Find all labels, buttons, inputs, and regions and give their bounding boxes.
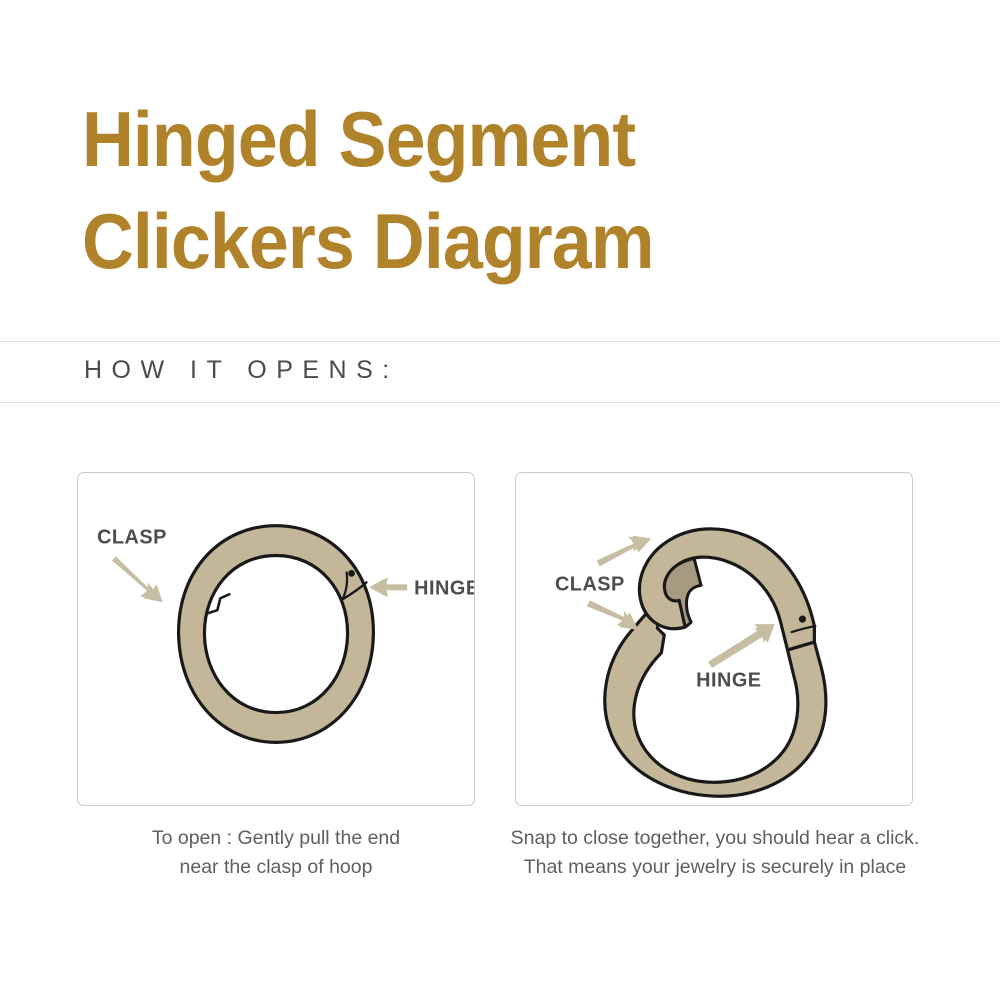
divider-bottom xyxy=(0,402,1000,403)
caption-line-1: To open : Gently pull the end xyxy=(77,824,475,853)
panel-opened-hoop: CLASP HINGE xyxy=(515,472,913,806)
panel-closed-hoop: CLASP HINGE xyxy=(77,472,475,806)
hinge-label: HINGE xyxy=(414,577,474,599)
hinge-pin-dot xyxy=(348,570,355,577)
hinge-pin-dot xyxy=(799,616,806,623)
clasp-label: CLASP xyxy=(555,573,625,595)
caption-closed-hoop: To open : Gently pull the end near the c… xyxy=(77,824,475,882)
hinge-arrow xyxy=(369,577,407,597)
divider-top xyxy=(0,341,1000,342)
clasp-arrow-upper xyxy=(597,536,652,567)
page-title: Hinged Segment Clickers Diagram xyxy=(82,88,902,292)
caption-line-2: That means your jewelry is securely in p… xyxy=(505,853,925,882)
page-title-line-1: Hinged Segment xyxy=(82,88,836,190)
hoop-closed xyxy=(179,526,374,743)
caption-line-2: near the clasp of hoop xyxy=(77,853,475,882)
clasp-arrow-lower xyxy=(587,600,639,630)
clasp-arrow xyxy=(112,556,163,602)
hinge-label: HINGE xyxy=(696,670,761,692)
hinge-arrow xyxy=(708,624,775,668)
page-title-line-2: Clickers Diagram xyxy=(82,190,836,292)
section-heading: HOW IT OPENS: xyxy=(84,356,399,385)
caption-line-1: Snap to close together, you should hear … xyxy=(505,824,925,853)
clasp-label: CLASP xyxy=(97,527,167,549)
caption-opened-hoop: Snap to close together, you should hear … xyxy=(505,824,925,882)
